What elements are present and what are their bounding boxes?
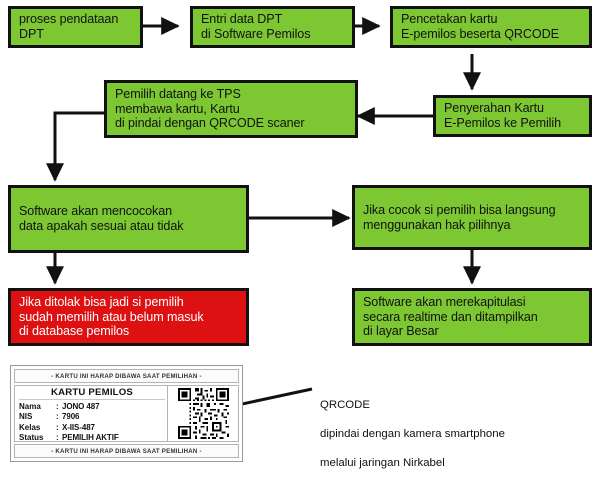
- flow-node-label: Penyerahan Kartu E-Pemilos ke Pemilih: [444, 101, 561, 131]
- flow-node-entri-data-dpt[interactable]: Entri data DPT di Software Pemilos: [190, 6, 355, 48]
- flow-node-label: Pencetakan kartu E-pemilos beserta QRCOD…: [401, 12, 559, 42]
- flow-node-pemilih-datang-ke-tps[interactable]: Pemilih datang ke TPS membawa kartu, Kar…: [104, 80, 358, 138]
- qrcode-annotation-line-3: melalui jaringan Nirkabel: [320, 456, 590, 471]
- card-field-value: 7906: [62, 412, 167, 421]
- flow-node-label: Software akan merekapitulasi secara real…: [363, 295, 538, 340]
- flow-node-label: Entri data DPT di Software Pemilos: [201, 12, 310, 42]
- card-field-key: Kelas: [19, 423, 56, 432]
- flow-node-label: proses pendataan DPT: [19, 12, 118, 42]
- card-footer-band: - KARTU INI HARAP DIBAWA SAAT PEMILIHAN …: [14, 444, 239, 458]
- flow-node-pencetakan-kartu[interactable]: Pencetakan kartu E-pemilos beserta QRCOD…: [390, 6, 592, 48]
- card-field-kelas: Kelas : X-IIS-487: [19, 423, 167, 432]
- card-field-value: JONO 487: [62, 402, 167, 411]
- card-header-band: - KARTU INI HARAP DIBAWA SAAT PEMILIHAN …: [14, 369, 239, 383]
- card-title: KARTU PEMILOS: [19, 387, 165, 400]
- card-qr-cell: [167, 386, 238, 441]
- qrcode-annotation-heading: QRCODE: [320, 398, 590, 413]
- flow-node-software-merekapitulasi[interactable]: Software akan merekapitulasi secara real…: [352, 288, 592, 346]
- card-field-value: PEMILIH AKTIF: [62, 433, 167, 442]
- card-field-nis: NIS : 7906: [19, 412, 167, 421]
- card-field-nama: Nama : JONO 487: [19, 402, 167, 411]
- flowchart-canvas: proses pendataan DPT Entri data DPT di S…: [0, 0, 600, 470]
- flow-node-software-mencocokan[interactable]: Software akan mencocokan data apakah ses…: [8, 185, 249, 253]
- flow-node-label: Pemilih datang ke TPS membawa kartu, Kar…: [115, 87, 305, 132]
- card-field-value: X-IIS-487: [62, 423, 167, 432]
- connector-n5-n6: [55, 113, 104, 180]
- kartu-pemilos-card: - KARTU INI HARAP DIBAWA SAAT PEMILIHAN …: [10, 365, 243, 462]
- flow-node-proses-pendataan-dpt[interactable]: proses pendataan DPT: [8, 6, 143, 48]
- card-info-panel: KARTU PEMILOS Nama : JONO 487 NIS : 7906…: [15, 386, 167, 441]
- flow-node-label: Software akan mencocokan data apakah ses…: [19, 204, 183, 234]
- card-field-key: NIS: [19, 412, 56, 421]
- qrcode-annotation-line-2: dipindai dengan kamera smartphone: [320, 427, 590, 442]
- card-body: KARTU PEMILOS Nama : JONO 487 NIS : 7906…: [14, 385, 239, 442]
- flow-node-label: Jika ditolak bisa jadi si pemilih sudah …: [19, 295, 204, 340]
- flow-node-penyerahan-kartu[interactable]: Penyerahan Kartu E-Pemilos ke Pemilih: [433, 95, 592, 137]
- flow-node-jika-ditolak[interactable]: Jika ditolak bisa jadi si pemilih sudah …: [8, 288, 249, 346]
- card-field-key: Status: [19, 433, 56, 442]
- card-field-status: Status : PEMILIH AKTIF: [19, 433, 167, 442]
- card-field-key: Nama: [19, 402, 56, 411]
- qr-code-icon: [176, 386, 231, 441]
- flow-node-jika-cocok[interactable]: Jika cocok si pemilih bisa langsung meng…: [352, 185, 592, 250]
- flow-node-label: Jika cocok si pemilih bisa langsung meng…: [363, 203, 556, 233]
